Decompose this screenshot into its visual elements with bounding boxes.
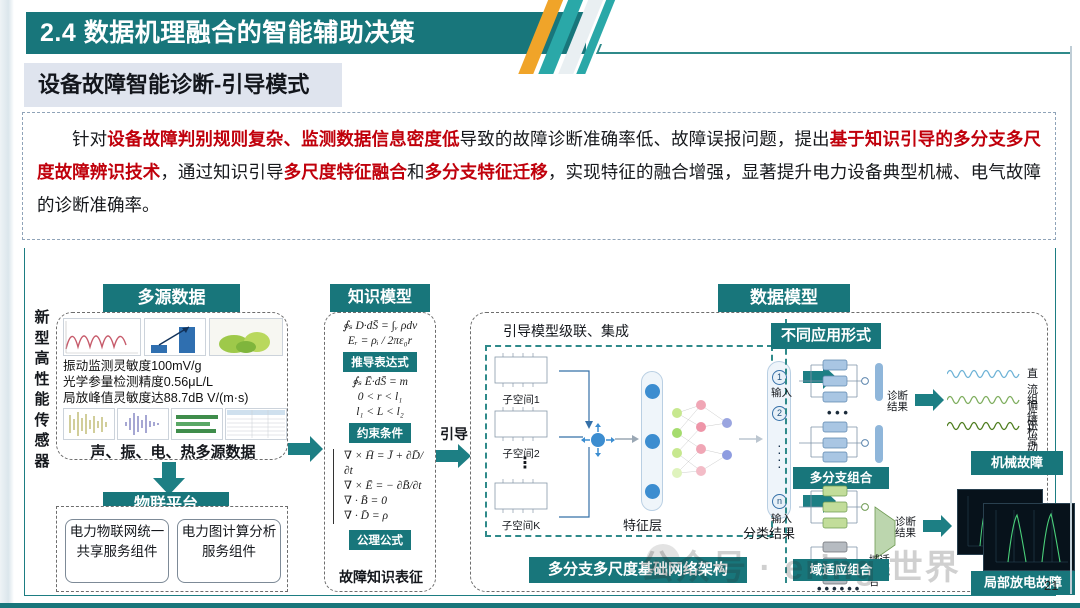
thermal-image-thumb <box>209 318 283 356</box>
subspace-node-k: 子空间K <box>493 479 549 533</box>
acoustic-signal-thumb <box>63 408 115 440</box>
class-vertical-dots: ···· <box>777 442 782 470</box>
para-bold-1: 设备故障判别规则复杂、监测数据信息密度低 <box>107 129 459 149</box>
subtitle-badge: 设备故障智能诊断-引导模式 <box>24 63 342 107</box>
wave-label-normal: 正常 <box>1027 417 1047 449</box>
km-formula-9: ∇ · D̄ = ρ <box>344 509 427 524</box>
feature-layer-column <box>641 371 663 511</box>
subtitle-text: 设备故障智能诊断-引导模式 <box>24 63 342 107</box>
app-row2-diag-label: 诊断结果 <box>895 517 923 539</box>
header-stripes <box>530 4 660 64</box>
wave-dc-bias-icon <box>947 367 1021 380</box>
km-tag-axiom: 公理公式 <box>349 530 411 550</box>
spec-line-1: 振动监测灵敏度100mV/g <box>63 358 289 374</box>
km-formula-2: Eᵣ = ρᵢ / 2πε₀r <box>325 334 435 349</box>
para-bold-4: 多分支特征迁移 <box>425 162 548 182</box>
subspace-label-1: 子空间1 <box>493 392 549 407</box>
km-formula-4: 0 < r < l₁ <box>325 390 435 405</box>
subspace-ellipsis: ⋮ <box>517 453 533 473</box>
pd-plot-front <box>983 503 1075 571</box>
arrow-down-icon <box>152 462 186 496</box>
para-seg-4: 和 <box>407 162 425 182</box>
waveform-chart-thumb <box>63 318 141 356</box>
multi-source-box: 振动监测灵敏度100mV/g 光学参量检测精度0.56μL/L 局放峰值灵敏度达… <box>56 312 288 460</box>
network-caption: 引导模型级联、集成 <box>503 321 629 341</box>
km-formula-6: ∇ × H̄ = J̄ + ∂D̄/∂t <box>344 449 427 479</box>
svg-text:• • •: • • • <box>827 405 848 420</box>
neural-network-icon <box>669 391 739 491</box>
right-edge-line <box>1070 46 1072 594</box>
wave-normal-icon <box>947 419 1021 432</box>
feature-layer-label: 特征层 <box>623 515 662 534</box>
wave-loose-part-icon <box>947 393 1021 406</box>
slide-root: 2.4 数据机理融合的智能辅助决策 设备故障智能诊断-引导模式 针对设备故障判别… <box>0 0 1080 608</box>
km-formula-1: ∮ₛ D·dS̄ = ∫ᵥ ρdv <box>325 319 435 334</box>
subspace-label-k: 子空间K <box>493 518 549 533</box>
arrow-right-icon-2 <box>436 444 472 468</box>
multi-source-caption: 声、振、电、热多源数据 <box>57 441 289 462</box>
knowledge-model-box: ∮ₛ D·dS̄ = ∫ᵥ ρdv Eᵣ = ρᵢ / 2πε₀r 推导表达式 … <box>324 312 436 592</box>
fusion-node-icon <box>579 421 617 459</box>
multi-source-thumbnails-2 <box>63 408 285 440</box>
para-seg-3: ，通过知识引导 <box>160 162 283 182</box>
arrow-right-icon-1 <box>288 436 324 462</box>
para-seg-1: 针对 <box>72 129 107 149</box>
page-title: 2.4 数据机理融合的智能辅助决策 <box>26 12 586 54</box>
mechanical-fault-pill: 机械故障 <box>971 451 1063 475</box>
subspace-node-1: 子空间1 <box>493 353 549 407</box>
bottom-rule <box>0 603 1080 608</box>
iot-platform-box: 电力物联网统一共享服务组件 电力图计算分析服务组件 <box>56 506 288 592</box>
km-formula-3: ∮ₛ Ē·dS̄ = m <box>325 375 435 390</box>
arrow-to-feature-icon <box>615 431 641 447</box>
km-maxwell-group: ∇ × H̄ = J̄ + ∂D̄/∂t ∇ × Ē = − ∂B̄/∂t ∇ … <box>333 449 427 524</box>
watermark-text: 公众号 · ering 世界 <box>640 540 961 589</box>
data-model-pill: 数据模型 <box>718 284 850 312</box>
iot-card-2: 电力图计算分析服务组件 <box>177 519 281 583</box>
application-forms-pill: 不同应用形式 <box>771 323 881 349</box>
km-formula-8: ∇ · B̄ = 0 <box>344 494 427 509</box>
iot-card-1: 电力物联网统一共享服务组件 <box>65 519 169 583</box>
spec-line-2: 光学参量检测精度0.56μL/L <box>63 374 289 390</box>
vibration-signal-thumb <box>117 408 169 440</box>
summary-paragraph-box: 针对设备故障判别规则复杂、监测数据信息密度低导致的故障诊断准确率低、故障误报问题… <box>22 112 1056 240</box>
km-formula-7: ∇ × Ē = − ∂B̄/∂t <box>344 479 427 494</box>
feature-dot-3 <box>645 484 660 499</box>
spec-line-3: 局放峰值灵敏度达88.7dB V/(m·s) <box>63 390 289 406</box>
para-seg-2: 导致的故障诊断准确率低、故障误报问题，提出 <box>460 129 830 149</box>
km-footer-label: 故障知识表征 <box>325 567 437 587</box>
left-accent-bar <box>0 0 14 608</box>
app-row2-input-label: 输入 <box>771 511 792 526</box>
app-row1-diag-label: 诊断结果 <box>887 391 915 413</box>
km-formula-5: l₁ < L < l₂ <box>325 405 435 420</box>
arrow-row1-icon <box>915 389 945 411</box>
feature-dot-1 <box>645 384 660 399</box>
header-band: 2.4 数据机理融合的智能辅助决策 <box>26 12 586 54</box>
spectrum-thumb <box>171 408 223 440</box>
multi-source-thumbnails <box>63 318 283 356</box>
app-row1-input-label: 输入 <box>771 385 792 400</box>
bar-chart-thumb <box>144 318 206 356</box>
para-bold-3: 多尺度特征融合 <box>284 162 407 182</box>
header-rule <box>600 52 1070 54</box>
arrow-row2-icon <box>923 515 953 537</box>
feature-dot-2 <box>645 434 660 449</box>
partial-discharge-fault-pill: 局部放电故障 <box>971 571 1075 595</box>
km-tag-constraint: 约束条件 <box>349 423 411 443</box>
km-tag-derivation: 推导表达式 <box>343 352 417 372</box>
multi-source-pill: 多源数据 <box>103 284 240 312</box>
arrow-to-class-icon <box>739 431 765 447</box>
multi-source-specs: 振动监测灵敏度100mV/g 光学参量检测精度0.56μL/L 局放峰值灵敏度达… <box>63 358 289 406</box>
page-number: 21 <box>1044 578 1058 593</box>
data-table-thumb <box>225 408 287 440</box>
summary-paragraph: 针对设备故障判别规则复杂、监测数据信息密度低导致的故障诊断准确率低、故障误报问题… <box>37 123 1041 222</box>
sensor-vertical-label: 新型高性能传感器 <box>30 308 54 472</box>
guide-label: 引导 <box>440 424 468 444</box>
knowledge-model-pill: 知识模型 <box>330 284 430 312</box>
